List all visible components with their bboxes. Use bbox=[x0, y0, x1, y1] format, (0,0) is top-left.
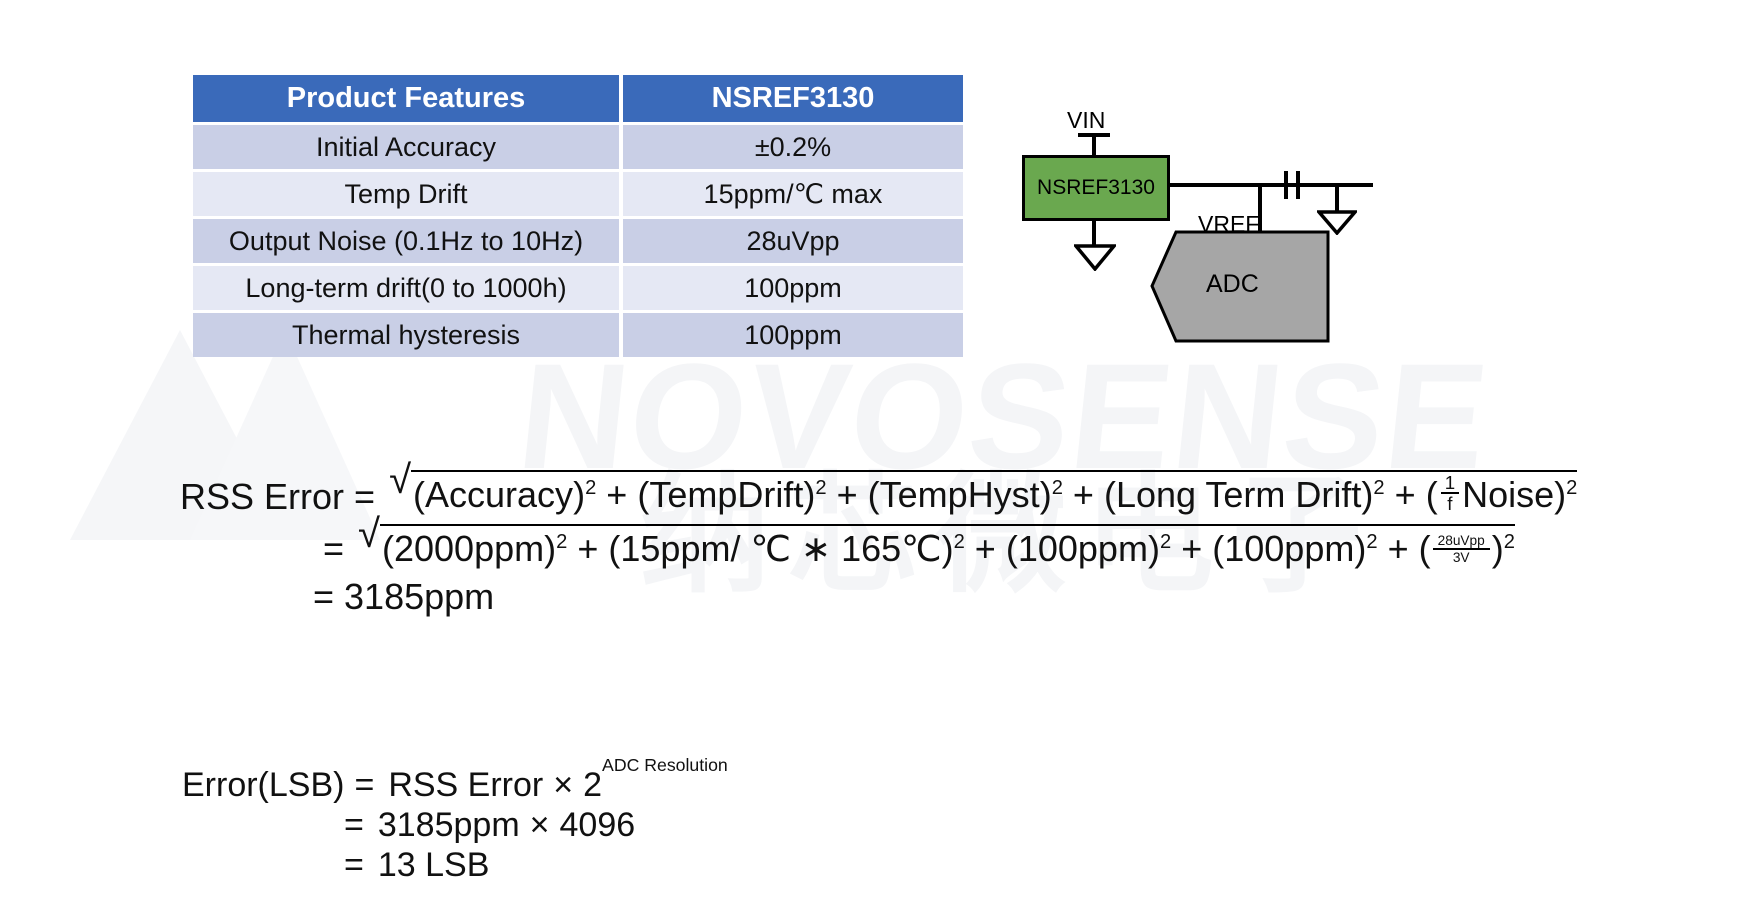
rss-result: = 3185ppm bbox=[313, 576, 494, 618]
num-term-close-1: ) bbox=[544, 528, 556, 569]
lsb-line-3: = 13 LSB bbox=[182, 845, 728, 885]
vin-label: VIN bbox=[1067, 107, 1105, 134]
rss-radicand-2: (2000ppm)2 + (15ppm/ ℃ ∗ 165℃)2 + (100pp… bbox=[380, 524, 1515, 570]
row-feature-label: Output Noise (0.1Hz to 10Hz) bbox=[193, 219, 619, 263]
num-term-body-1: 2000ppm bbox=[394, 528, 544, 569]
noise-fraction-numerator: 28uVpp bbox=[1433, 533, 1490, 550]
lsb-ppm-value: 3185ppm bbox=[378, 805, 520, 845]
term-body-2: TempDrift bbox=[649, 474, 803, 515]
capacitor-plate-left bbox=[1284, 171, 1288, 199]
num-term-body-2: 15ppm/ ℃ ∗ 165℃ bbox=[620, 528, 941, 569]
lsb-equals-3: = bbox=[344, 845, 364, 885]
num-term-exp-4: 2 bbox=[1366, 531, 1377, 553]
num-term-exp-5: 2 bbox=[1504, 531, 1515, 553]
row-feature-label: Long-term drift(0 to 1000h) bbox=[193, 266, 619, 310]
rss-error-label: RSS Error bbox=[180, 476, 344, 518]
rss-radicand-1: (Accuracy)2 + (TempDrift)2 + (TempHyst)2… bbox=[411, 470, 1577, 518]
term-exp-4: 2 bbox=[1373, 477, 1384, 499]
rss-formula-line-2: = √ (2000ppm)2 + (15ppm/ ℃ ∗ 165℃)2 + (1… bbox=[180, 524, 1577, 570]
term-open-2: ( bbox=[637, 474, 649, 515]
rss-equals-2: = bbox=[323, 528, 344, 570]
noise-over-supply-fraction: 28uVpp3V bbox=[1433, 533, 1490, 565]
num-term-close-2: ) bbox=[942, 528, 954, 569]
lsb-times-1: × bbox=[553, 765, 573, 805]
slide-page: NOVOSENSE 纳芯微电子 Product Features NSREF31… bbox=[0, 0, 1745, 922]
table-header-part: NSREF3130 bbox=[623, 75, 963, 122]
num-term-close-4: ) bbox=[1354, 528, 1366, 569]
lsb-rss-error-term: RSS Error bbox=[388, 765, 543, 805]
lsb-codes-value: 4096 bbox=[560, 805, 636, 845]
num-plus-4: + bbox=[1388, 528, 1409, 569]
term-close-4: ) bbox=[1361, 474, 1373, 515]
nsref3130-block-label: NSREF3130 bbox=[1037, 176, 1155, 200]
table-row: Long-term drift(0 to 1000h) 100ppm bbox=[193, 266, 963, 310]
rss-formula-line-1: RSS Error = √ (Accuracy)2 + (TempDrift)2… bbox=[180, 470, 1577, 518]
num-term-exp-1: 2 bbox=[556, 531, 567, 553]
term-body-3: TempHyst bbox=[880, 474, 1040, 515]
row-feature-value: 15ppm/℃ max bbox=[623, 172, 963, 216]
one-over-f-denominator: f bbox=[1443, 494, 1456, 514]
row-feature-value: 28uVpp bbox=[623, 219, 963, 263]
lsb-final-result: 13 LSB bbox=[378, 845, 490, 885]
num-plus-1: + bbox=[577, 528, 598, 569]
sqrt-icon-2: √ bbox=[358, 516, 380, 552]
capacitor-plate-right bbox=[1296, 171, 1300, 199]
vref-wire-horizontal bbox=[1168, 183, 1373, 187]
term-exp-5: 2 bbox=[1566, 477, 1577, 499]
term-open-4: ( bbox=[1104, 474, 1116, 515]
term-open-5: ( bbox=[1426, 474, 1438, 515]
num-term-exp-3: 2 bbox=[1160, 531, 1171, 553]
vref-wire-to-adc bbox=[1258, 185, 1262, 231]
noise-fraction-denominator: 3V bbox=[1448, 550, 1475, 565]
row-feature-label: Thermal hysteresis bbox=[193, 313, 619, 357]
plus-3: + bbox=[1073, 474, 1094, 515]
plus-2: + bbox=[837, 474, 858, 515]
term-close-3: ) bbox=[1040, 474, 1052, 515]
num-plus-2: + bbox=[975, 528, 996, 569]
lsb-line-2: = 3185ppm × 4096 bbox=[182, 805, 728, 845]
lsb-equals-1: = bbox=[354, 765, 374, 805]
error-lsb-formula: Error(LSB) = RSS Error × 2ADC Resolution… bbox=[182, 765, 728, 885]
lsb-equals-2: = bbox=[344, 805, 364, 845]
term-open-3: ( bbox=[868, 474, 880, 515]
num-term-open-5: ( bbox=[1419, 528, 1431, 569]
term-open-1: ( bbox=[413, 474, 425, 515]
one-over-f-fraction: 1f bbox=[1441, 473, 1459, 514]
term-body-4: Long Term Drift bbox=[1116, 474, 1361, 515]
term-body-1: Accuracy bbox=[425, 474, 573, 515]
num-plus-3: + bbox=[1181, 528, 1202, 569]
table-row: Thermal hysteresis 100ppm bbox=[193, 313, 963, 357]
term-exp-1: 2 bbox=[585, 477, 596, 499]
term-exp-2: 2 bbox=[815, 477, 826, 499]
term-close-1: ) bbox=[573, 474, 585, 515]
table-row: Initial Accuracy ±0.2% bbox=[193, 125, 963, 169]
table-header-feature: Product Features bbox=[193, 75, 619, 122]
lsb-times-2: × bbox=[530, 805, 550, 845]
term-body-5: Noise bbox=[1462, 474, 1554, 515]
error-lsb-label: Error(LSB) bbox=[182, 765, 344, 805]
num-term-body-4: 100ppm bbox=[1224, 528, 1354, 569]
num-term-open-1: ( bbox=[382, 528, 394, 569]
num-term-open-2: ( bbox=[608, 528, 620, 569]
row-feature-label: Temp Drift bbox=[193, 172, 619, 216]
sqrt-icon: √ bbox=[389, 462, 411, 498]
term-close-5: ) bbox=[1554, 474, 1566, 515]
row-feature-label: Initial Accuracy bbox=[193, 125, 619, 169]
row-feature-value: 100ppm bbox=[623, 266, 963, 310]
rss-formula-line-3: = 3185ppm bbox=[180, 576, 1577, 618]
num-term-exp-2: 2 bbox=[954, 531, 965, 553]
term-exp-3: 2 bbox=[1052, 477, 1063, 499]
circuit-diagram: VIN NSREF3130 VREF bbox=[990, 95, 1420, 365]
row-feature-value: ±0.2% bbox=[623, 125, 963, 169]
num-term-open-3: ( bbox=[1006, 528, 1018, 569]
lsb-power-base: 2 bbox=[583, 765, 602, 805]
rss-error-formula: RSS Error = √ (Accuracy)2 + (TempDrift)2… bbox=[180, 470, 1577, 618]
num-term-close-5: ) bbox=[1492, 528, 1504, 569]
num-term-open-4: ( bbox=[1212, 528, 1224, 569]
lsb-line-1: Error(LSB) = RSS Error × 2ADC Resolution bbox=[182, 765, 728, 805]
adc-block-label: ADC bbox=[1206, 270, 1259, 299]
plus-1: + bbox=[606, 474, 627, 515]
ground-icon bbox=[1074, 243, 1116, 271]
vin-wire bbox=[1092, 135, 1096, 157]
num-term-body-3: 100ppm bbox=[1018, 528, 1148, 569]
table-row: Temp Drift 15ppm/℃ max bbox=[193, 172, 963, 216]
plus-4: + bbox=[1395, 474, 1416, 515]
nsref3130-block: NSREF3130 bbox=[1022, 155, 1170, 221]
row-feature-value: 100ppm bbox=[623, 313, 963, 357]
one-over-f-numerator: 1 bbox=[1441, 473, 1459, 495]
num-term-close-3: ) bbox=[1148, 528, 1160, 569]
table-header-row: Product Features NSREF3130 bbox=[193, 75, 963, 122]
table-row: Output Noise (0.1Hz to 10Hz) 28uVpp bbox=[193, 219, 963, 263]
product-features-table: Product Features NSREF3130 Initial Accur… bbox=[193, 72, 963, 360]
term-close-2: ) bbox=[803, 474, 815, 515]
